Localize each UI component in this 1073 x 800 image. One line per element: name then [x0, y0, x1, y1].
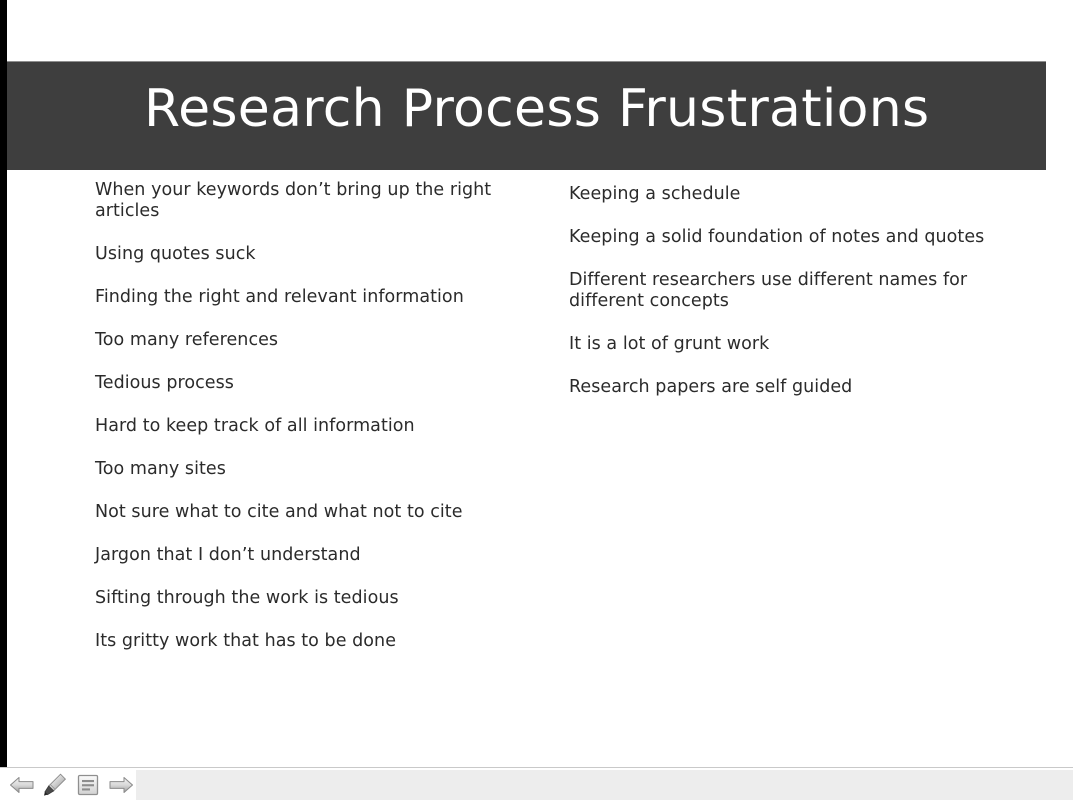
- bullet-item: Using quotes suck: [95, 244, 495, 265]
- bullet-item: Its gritty work that has to be done: [95, 631, 495, 652]
- bullet-item: Keeping a schedule: [569, 184, 999, 205]
- toolbar-button-group: [8, 770, 135, 800]
- bottom-toolbar: [0, 770, 1073, 800]
- pen-icon[interactable]: [41, 772, 69, 798]
- right-column: Keeping a scheduleKeeping a solid founda…: [569, 180, 999, 420]
- toolbar-divider: [0, 767, 1073, 768]
- bullet-item: Too many references: [95, 330, 495, 351]
- slide-canvas: Research Process Frustrations When your …: [7, 0, 1046, 767]
- left-border-rail: [0, 0, 7, 767]
- bullet-item: Jargon that I don’t understand: [95, 545, 495, 566]
- bullet-item: Finding the right and relevant informati…: [95, 287, 495, 308]
- next-arrow-icon[interactable]: [107, 772, 135, 798]
- slide-body: When your keywords don’t bring up the ri…: [7, 180, 1046, 740]
- slide-title-band: Research Process Frustrations: [7, 61, 1046, 170]
- notes-icon[interactable]: [74, 772, 102, 798]
- bullet-item: When your keywords don’t bring up the ri…: [95, 180, 495, 222]
- bullet-item: Hard to keep track of all information: [95, 416, 495, 437]
- left-column: When your keywords don’t bring up the ri…: [95, 180, 495, 674]
- bullet-item: Tedious process: [95, 373, 495, 394]
- bullet-item: Research papers are self guided: [569, 377, 999, 398]
- page-title: Research Process Frustrations: [144, 83, 929, 135]
- bullet-item: It is a lot of grunt work: [569, 334, 999, 355]
- previous-arrow-icon[interactable]: [8, 772, 36, 798]
- slide-viewer: Research Process Frustrations When your …: [0, 0, 1073, 800]
- bullet-item: Different researchers use different name…: [569, 270, 999, 312]
- bullet-item: Keeping a solid foundation of notes and …: [569, 227, 999, 248]
- bullet-item: Sifting through the work is tedious: [95, 588, 495, 609]
- bullet-item: Not sure what to cite and what not to ci…: [95, 502, 495, 523]
- bullet-item: Too many sites: [95, 459, 495, 480]
